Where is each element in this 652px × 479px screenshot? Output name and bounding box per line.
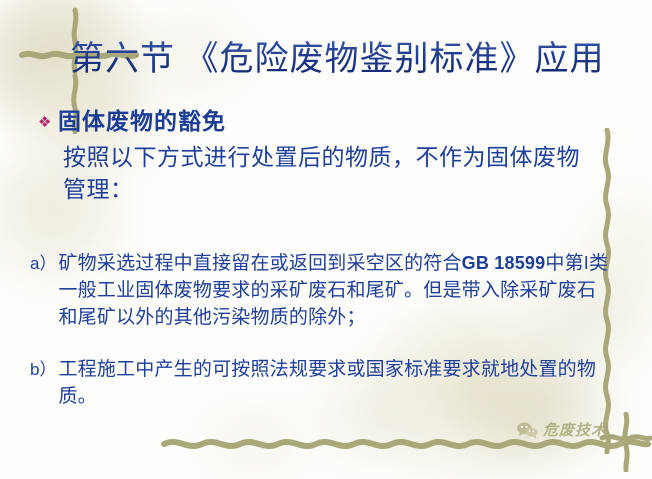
diamond-bullet-icon: ❖ bbox=[38, 107, 58, 137]
watermark: 危废技术 bbox=[516, 419, 607, 440]
wechat-icon bbox=[516, 421, 538, 439]
list-item-text: 工程施工中产生的可按照法规要求或国家标准要求就地处置的物质。 bbox=[58, 356, 610, 410]
intro-paragraph: 按照以下方式进行处置后的物质，不作为固体废物管理： bbox=[63, 142, 593, 206]
watermark-text: 危废技术 bbox=[543, 419, 607, 440]
slide-canvas: 第六节 《危险废物鉴别标准》应用 ❖ 固体废物的豁免 按照以下方式进行处置后的物… bbox=[0, 0, 652, 479]
list-item-text-before: 矿物采选过程中直接留在或返回到采空区的符合 bbox=[58, 253, 461, 274]
list-item: a） 矿物采选过程中直接留在或返回到采空区的符合GB 18599中第I类一般工业… bbox=[30, 250, 610, 331]
bullet-heading-label: 固体废物的豁免 bbox=[58, 107, 226, 137]
bullet-heading: ❖ 固体废物的豁免 bbox=[38, 107, 226, 137]
list-item-text-middle: 中第 bbox=[545, 253, 583, 274]
list-item: b） 工程施工中产生的可按照法规要求或国家标准要求就地处置的物质。 bbox=[30, 356, 610, 410]
slide-content: ❖ 固体废物的豁免 按照以下方式进行处置后的物质，不作为固体废物管理： a） 矿… bbox=[0, 0, 652, 479]
list-item-marker-paren: ） bbox=[39, 360, 56, 379]
list-item-marker-paren: ） bbox=[39, 254, 56, 273]
list-item-text: 矿物采选过程中直接留在或返回到采空区的符合GB 18599中第I类一般工业固体废… bbox=[58, 250, 610, 331]
list-item-text-before: 工程施工中产生的可按照法规要求或国家标准要求就地处置的物质。 bbox=[58, 359, 596, 407]
list-item-marker: a） bbox=[30, 250, 58, 277]
list-item-marker: b） bbox=[30, 356, 58, 383]
standard-code: GB 18599 bbox=[462, 253, 546, 273]
